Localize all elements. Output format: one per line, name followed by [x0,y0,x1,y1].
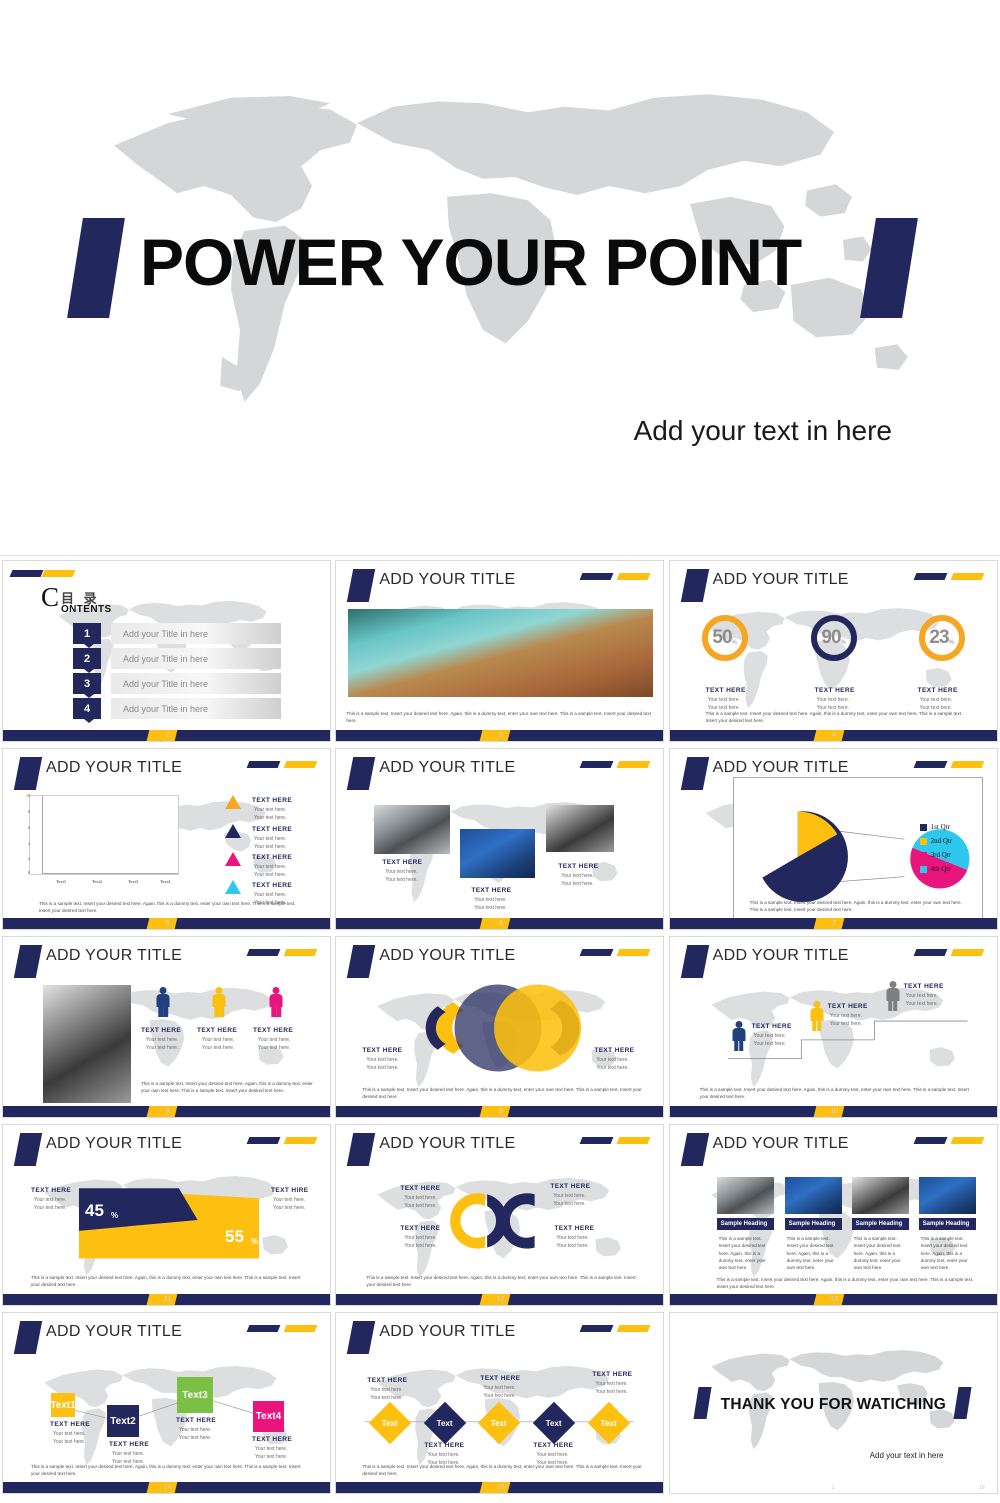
accent-bar-yellow [42,570,76,577]
page-number: 13 [670,1294,998,1305]
square-node: Text1 [51,1393,75,1417]
accent-bar-navy [580,761,614,768]
stat-ring: 23 % [919,615,965,661]
square-label: Text4 [256,1411,281,1422]
stat-sub: Your text here. Your text here. [708,697,740,712]
square-label: Text3 [182,1390,207,1401]
toc-label: Add your Title in here [111,698,281,719]
slide-title: ADD YOUR TITLE [713,1135,849,1153]
item-label: TEXT HERE [554,1225,594,1232]
person-icon [728,1021,750,1049]
item-sub: Your text here. Your text here. [754,1033,786,1048]
stat-label: TEXT HERE [815,687,855,694]
diamond-label: Text [437,1418,453,1427]
slide-thumbnail-6[interactable]: ADD YOUR TITLE TEXT HERE TEXT HERE [335,748,664,930]
accent-bar-navy [580,573,614,580]
square-label: Text1 [50,1400,75,1411]
slide-thumbnail-9[interactable]: ADD YOUR TITLE [335,936,664,1118]
stat-value: 50 [712,627,731,649]
title-slide[interactable]: POWER YOUR POINT Add your text in here [0,0,1000,556]
item-label: TEXT HERE [400,1185,440,1192]
legend-swatch [920,824,927,831]
legend-swatch [920,838,927,845]
title-accent-bar [347,757,375,790]
thumbnail-row: C 目 录 ONTENTS 1 Add your Title in here 2… [0,557,1000,745]
item-label: TEXT HERE [533,1442,573,1449]
stat-sub: Your text here. Your text here. [817,697,849,712]
card-photo-car [852,1177,909,1214]
item-sub: Your text here. Your text here. [366,1057,398,1072]
toc-number: 3 [73,673,101,694]
slide-footer: 8 [3,1106,331,1117]
slide-thumbnail-grid: C 目 录 ONTENTS 1 Add your Title in here 2… [0,557,1000,1497]
thumbnail-row: ADD YOUR TITLE [0,933,1000,1121]
bar-chart-plot-area: 10 8 6 4 2 0 Text1 Text2 Text3 Text4 [29,795,179,875]
toc-number: 2 [73,648,101,669]
page-number: 2 [3,730,331,741]
item-sub: Your text here. Your text here. [255,1446,287,1461]
slide-thumbnail-14[interactable]: ADD YOUR TITLE Text1 [2,1312,331,1494]
x-tick-label: Text3 [116,879,150,884]
stat-value: 90 [821,627,840,649]
card-photo-keyboard [785,1177,842,1214]
thumbnail-row: ADD YOUR TITLE 10 8 6 4 2 [0,745,1000,933]
item-sub: Your text here. Your text here. [202,1037,234,1052]
person-icon [207,987,231,1017]
y-tick-label: 0 [18,870,30,875]
item-label: TEXT HERE [752,1023,792,1030]
slide-title: ADD YOUR TITLE [713,759,849,777]
presentation-preview-page: POWER YOUR POINT Add your text in here [0,0,1000,1503]
slide-title: ADD YOUR TITLE [379,759,515,777]
item-sub: Your text here. Your text here. [34,1197,66,1212]
title-subtitle: Add your text in here [634,415,892,447]
y-tick-label: 8 [18,809,30,814]
stat-sub: Your text here. Your text here. [920,697,952,712]
stat-label: TEXT HERE [706,687,746,694]
item-label: TEXT HERE [550,1183,590,1190]
item-label: TEXT HERE [109,1441,149,1448]
card-photo-keyboard [919,1177,976,1214]
toc-number: 1 [73,623,101,644]
accent-bar-navy [10,570,44,577]
page-number: 15 [336,1482,664,1493]
slide-thumbnail-16[interactable]: THANK YOU FOR WATICHING Add your text in… [669,1312,998,1494]
slide-footer: 7 [670,918,998,929]
legend-sub: Your text here. Your text here. [254,864,286,879]
item-sub: Your text here. Your text here. [595,1381,627,1396]
page-number: 16 [979,1485,985,1491]
accent-bar-yellow [950,1137,984,1144]
item-label: TEXT HERE [362,1047,402,1054]
page-number: 14 [3,1482,331,1493]
page-number: 3 [336,730,664,741]
chart-frame: 1st Qtr 2nd Qtr 3rd Qtr 4th Qtr This is … [733,777,983,925]
accent-bar-yellow [617,573,651,580]
slide-thumbnail-8[interactable]: ADD YOUR TITLE [2,936,331,1118]
stat-value: 55 [225,1227,244,1247]
item-sub: Your text here. Your text here. [556,1235,588,1250]
item-label: TEXT HERE [904,983,944,990]
page-number: 10 [670,1106,998,1117]
item-label: TEXT HERE [424,1442,464,1449]
item-label: TEXT HERE [592,1371,632,1378]
slide-thumbnail-2[interactable]: C 目 录 ONTENTS 1 Add your Title in here 2… [2,560,331,742]
page-number: 1 [832,1485,835,1491]
accent-bar-yellow [284,761,318,768]
slide-body-text: This is a sample text. Insert your desir… [141,1081,316,1095]
slide-photo-airplane [374,805,450,854]
slide-body-text: This is a sample text. Insert your desir… [366,1275,645,1289]
slide-body-text: This is a sample text. Insert your desir… [31,1275,310,1289]
slide-thumbnail-5[interactable]: ADD YOUR TITLE 10 8 6 4 2 [2,748,331,930]
accent-bar-navy [247,761,281,768]
slide-body-text: This is a sample text. Insert your desir… [346,711,653,725]
legend-label: TEXT HERE [252,826,292,833]
title-accent-bar [14,757,42,790]
diamond-label: Text [601,1418,617,1427]
slide-thumbnail-15[interactable]: ADD YOUR TITLE Text [335,1312,664,1494]
item-label: TEXT HERE [382,859,422,866]
thumbnail-row: ADD YOUR TITLE Text1 [0,1309,1000,1497]
slide-footer: 10 [670,1106,998,1117]
slide-thumbnail-13[interactable]: ADD YOUR TITLE Sample Heading [669,1124,998,1306]
person-icon [264,987,288,1017]
stat-value: 45 [85,1201,104,1221]
card-heading: Sample Heading [785,1218,842,1230]
thumbnail-row: ADD YOUR TITLE 45 % 55 [0,1121,1000,1309]
item-sub: Your text here. Your text here. [370,1387,402,1402]
item-label: TEXT HERE [197,1027,237,1034]
item-label: TEXT HERE [828,1003,868,1010]
item-label: TEXT HIRE [271,1187,309,1194]
stat-unit: % [251,1237,258,1246]
title-accent-bar [680,1133,708,1166]
slide-photo-car [43,985,131,1103]
slide-body-text: This is a sample text. Insert your desir… [750,900,968,914]
item-sub: Your text here. Your text here. [385,869,417,884]
accent-bar-navy [913,761,947,768]
legend-swatch [920,852,927,859]
slide-title: ADD YOUR TITLE [713,571,849,589]
page-number: 11 [3,1294,331,1305]
x-tick-label: Text4 [148,879,182,884]
page-number: 9 [336,1106,664,1117]
item-sub: Your text here. Your text here. [53,1431,85,1446]
item-label: TEXT HERE [141,1027,181,1034]
accent-bar-navy [247,949,281,956]
item-sub: Your text here. Your text here. [474,897,506,912]
legend-label: 1st Qtr [931,823,950,831]
item-sub: Your text here. Your text here. [404,1195,436,1210]
legend-label: 4th Qtr [931,865,951,873]
card-text: This is a sample text. Insert your desir… [854,1235,907,1272]
item-sub: Your text here. Your text here. [596,1057,628,1072]
accent-bar-yellow [950,573,984,580]
slide-footer: 15 [336,1482,664,1493]
legend-swatch [920,866,927,873]
page-number: 8 [3,1106,331,1117]
legend-marker-triangle [225,852,241,866]
item-label: TEXT HERE [31,1187,71,1194]
x-axis-line [42,873,178,874]
accent-bar-yellow [950,761,984,768]
slide-title: ADD YOUR TITLE [46,947,182,965]
card-heading: Sample Heading [852,1218,909,1230]
slide-footer: 13 [670,1294,998,1305]
page-number: 12 [336,1294,664,1305]
slide-thumbnail-11[interactable]: ADD YOUR TITLE 45 % 55 [2,1124,331,1306]
page-number: 4 [670,730,998,741]
stat-unit: % [949,640,954,646]
accent-bar-navy [913,573,947,580]
card-text: This is a sample text. Insert your desir… [787,1235,840,1272]
legend-marker-triangle [225,824,241,838]
contents-heading-en: ONTENTS [61,604,112,615]
page-title: POWER YOUR POINT [140,228,860,297]
item-sub: Your text here. Your text here. [258,1037,290,1052]
card-text: This is a sample text. Insert your desir… [719,1235,772,1272]
final-subtitle: Add your text in here [870,1451,944,1460]
person-icon [806,1001,828,1029]
toc-label: Add your Title in here [111,648,281,669]
slide-thumbnail-10[interactable]: ADD YOUR TITLE [669,936,998,1118]
slide-footer: 3 [336,730,664,741]
stat-value: 23 [929,627,948,649]
legend-label: TEXT HERE [252,797,292,804]
item-sub: Your text here. Your text here. [561,873,593,888]
slide-body-text: This is a sample text. Insert your desir… [717,1277,983,1291]
item-sub: Your text here. Your text here. [830,1013,862,1028]
slide-title: ADD YOUR TITLE [46,759,182,777]
item-label: TEXT HERE [367,1377,407,1384]
slide-footer: 12 [336,1294,664,1305]
diamond-label: Text [546,1418,562,1427]
contents-initial: C [41,585,59,611]
item-label: TEXT HERE [594,1047,634,1054]
card-heading: Sample Heading [919,1218,976,1230]
item-label: TEXT HERE [400,1225,440,1232]
slide-footer: 14 [3,1482,331,1493]
y-tick-label: 4 [18,841,30,846]
item-sub: Your text here. Your text here. [179,1427,211,1442]
toc-number: 4 [73,698,101,719]
person-icon [882,981,904,1009]
toc-label: Add your Title in here [111,673,281,694]
accent-bar-yellow [284,949,318,956]
square-node: Text4 [253,1401,284,1432]
stat-unit: % [841,640,846,646]
item-sub: Your text here. Your text here. [146,1037,178,1052]
legend-label: TEXT HERE [252,854,292,861]
card-text: This is a sample text. Insert your desir… [921,1235,974,1272]
slide-body-text: This is a sample text. Insert your desir… [362,1087,643,1101]
slide-body-text: This is a sample text. Insert your desir… [39,901,300,915]
stat-unit: % [732,640,737,646]
toc-label: Add your Title in here [111,623,281,644]
person-icon [151,987,175,1017]
square-node: Text2 [107,1405,139,1437]
square-label: Text2 [110,1416,135,1427]
stat-unit: % [111,1211,118,1220]
slide-thumbnail-3[interactable]: ADD YOUR TITLE This is a sample text. In… [335,560,664,742]
legend-marker-triangle [225,880,241,894]
legend-label: TEXT HERE [252,882,292,889]
stat-label: TEXT HERE [918,687,958,694]
slide-footer: 5 [3,918,331,929]
slide-title: ADD YOUR TITLE [379,571,515,589]
legend-label: 2nd Qtr [931,837,953,845]
slide-photo-keyboard [460,829,535,878]
item-label: TEXT HERE [176,1417,216,1424]
slide-photo-car [546,805,614,852]
y-tick-label: 6 [18,825,30,830]
item-sub: Your text here. Your text here. [404,1235,436,1250]
y-tick-label: 10 [18,793,30,798]
slide-body-text: This is a sample text. Insert your desir… [706,711,967,725]
page-number: 5 [3,918,331,929]
final-title: THANK YOU FOR WATICHING [721,1396,946,1414]
page-number: 6 [336,918,664,929]
slide-thumbnail-7[interactable]: ADD YOUR TITLE [669,748,998,930]
accent-bar-navy [913,1137,947,1144]
item-label: TEXT HERE [480,1375,520,1382]
slide-photo-buildings [348,609,653,697]
diamond-label: Text [382,1418,398,1427]
slide-footer: 4 [670,730,998,741]
slide-body-text: This is a sample text. Insert your desir… [31,1464,310,1478]
legend-sub: Your text here. Your text here. [254,836,286,851]
stat-ring: 90 % [811,615,857,661]
item-label: TEXT HERE [471,887,511,894]
accent-bar-yellow [617,761,651,768]
x-tick-label: Text2 [80,879,114,884]
slide-body-text: This is a sample text. Insert your desir… [700,1087,979,1101]
y-axis-line [42,796,43,874]
item-label: TEXT HERE [50,1421,90,1428]
item-label: TEXT HERE [252,1436,292,1443]
legend-marker-triangle [225,795,241,809]
item-sub: Your text here. Your text here. [483,1385,515,1400]
slide-footer: 11 [3,1294,331,1305]
item-label: TEXT HERE [253,1027,293,1034]
slide-footer: 2 [3,730,331,741]
slide-thumbnail-12[interactable]: ADD YOUR TITLE TEX [335,1124,664,1306]
item-sub: Your text here. Your text here. [906,993,938,1008]
item-label: TEXT HERE [558,863,598,870]
legend-sub: Your text here. Your text here. [254,807,286,822]
page-number: 7 [670,918,998,929]
slide-body-text: This is a sample text. Insert your desir… [362,1464,643,1478]
legend-label: 3rd Qtr [931,851,951,859]
slide-footer: 6 [336,918,664,929]
item-sub: Your text here. Your text here. [273,1197,305,1212]
card-photo-airplane [717,1177,774,1214]
x-tick-label: Text1 [44,879,78,884]
square-node: Text3 [177,1377,213,1413]
item-sub: Your text here. Your text here. [553,1193,585,1208]
diamond-label: Text [491,1418,507,1427]
card-heading: Sample Heading [717,1218,774,1230]
slide-footer: 9 [336,1106,664,1117]
slide-thumbnail-4[interactable]: ADD YOUR TITLE 50 % [669,560,998,742]
y-tick-label: 2 [18,856,30,861]
stat-ring: 50 % [702,615,748,661]
title-accent-bar [14,945,42,978]
